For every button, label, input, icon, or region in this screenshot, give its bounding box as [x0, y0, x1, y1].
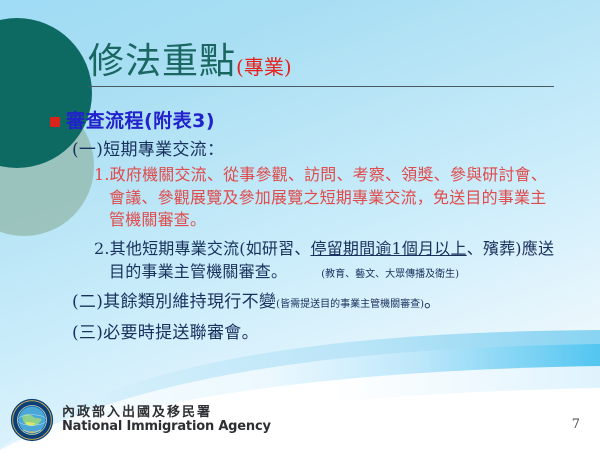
- item-2-line-2: 目的事業主管機關審查。: [109, 262, 287, 281]
- title-line: 修法重點(專業): [88, 44, 558, 80]
- item-2-line-1-underlined: 停留期間逾1個月以上: [311, 239, 467, 258]
- agency-branding: 內政部入出國及移民署 National Immigration Agency: [10, 398, 271, 442]
- slide-title: 修法重點(專業): [88, 44, 558, 87]
- agency-name-en: National Immigration Agency: [62, 420, 271, 434]
- section-one-item-1: 1.政府機關交流、從事參觀、訪問、考察、領獎、參與研討會、 會議、參觀展覽及參加…: [94, 164, 590, 232]
- slide-content: 審查流程(附表3) (一)短期專業交流： 1.政府機關交流、從事參觀、訪問、考察…: [50, 110, 590, 344]
- item-2-number: 2.: [94, 239, 110, 258]
- item-1-line-1: 政府機關交流、從事參觀、訪問、考察、領獎、參與研討會、: [110, 165, 547, 184]
- section-two-label: (二)其餘類別維持現行不變: [72, 292, 276, 312]
- section-two-row: (二)其餘類別維持現行不變(皆需提送目的事業主管機關審查)。: [72, 291, 590, 313]
- item-2-note: (教育、藝文、大眾傳播及衛生): [321, 269, 459, 280]
- agency-name-cn: 內政部入出國及移民署: [62, 406, 271, 420]
- section-two-note: (皆需提送目的事業主管機關審查): [276, 299, 424, 310]
- title-divider: [88, 86, 554, 87]
- item-2-line-2-row: 目的事業主管機關審查。(教育、藝文、大眾傳播及衛生): [109, 261, 590, 284]
- section-two-suffix: 。: [424, 292, 441, 312]
- content-heading-label: 審查流程(附表3): [66, 110, 215, 134]
- section-one-item-2: 2.其他短期專業交流(如研習、停留期間逾1個月以上、殯葬)應送 目的事業主管機關…: [94, 238, 590, 283]
- item-2-line-1-before: 其他短期專業交流(如研習、: [110, 239, 311, 258]
- square-bullet-icon: [50, 117, 60, 127]
- slide-canvas: 修法重點(專業) 審查流程(附表3) (一)短期專業交流： 1.政府機關交流、從…: [0, 0, 600, 450]
- content-heading: 審查流程(附表3): [50, 110, 590, 134]
- title-main-text: 修法重點: [88, 41, 236, 82]
- agency-emblem-icon: [10, 398, 54, 442]
- title-accent-text: (專業): [236, 55, 292, 79]
- item-1-line-2: 會議、參觀展覽及參加展覽之短期專業交流，免送目的事業主: [109, 187, 590, 210]
- page-number: 7: [572, 417, 580, 432]
- item-1-number: 1.: [94, 165, 110, 184]
- section-one-label: (一)短期專業交流：: [72, 139, 590, 161]
- section-three-label: (三)必要時提送聯審會。: [72, 322, 590, 344]
- item-2-line-1-after: 、殯葬)應送: [467, 239, 554, 258]
- agency-name-block: 內政部入出國及移民署 National Immigration Agency: [62, 406, 271, 433]
- item-1-line-3: 管機關審查。: [109, 209, 590, 232]
